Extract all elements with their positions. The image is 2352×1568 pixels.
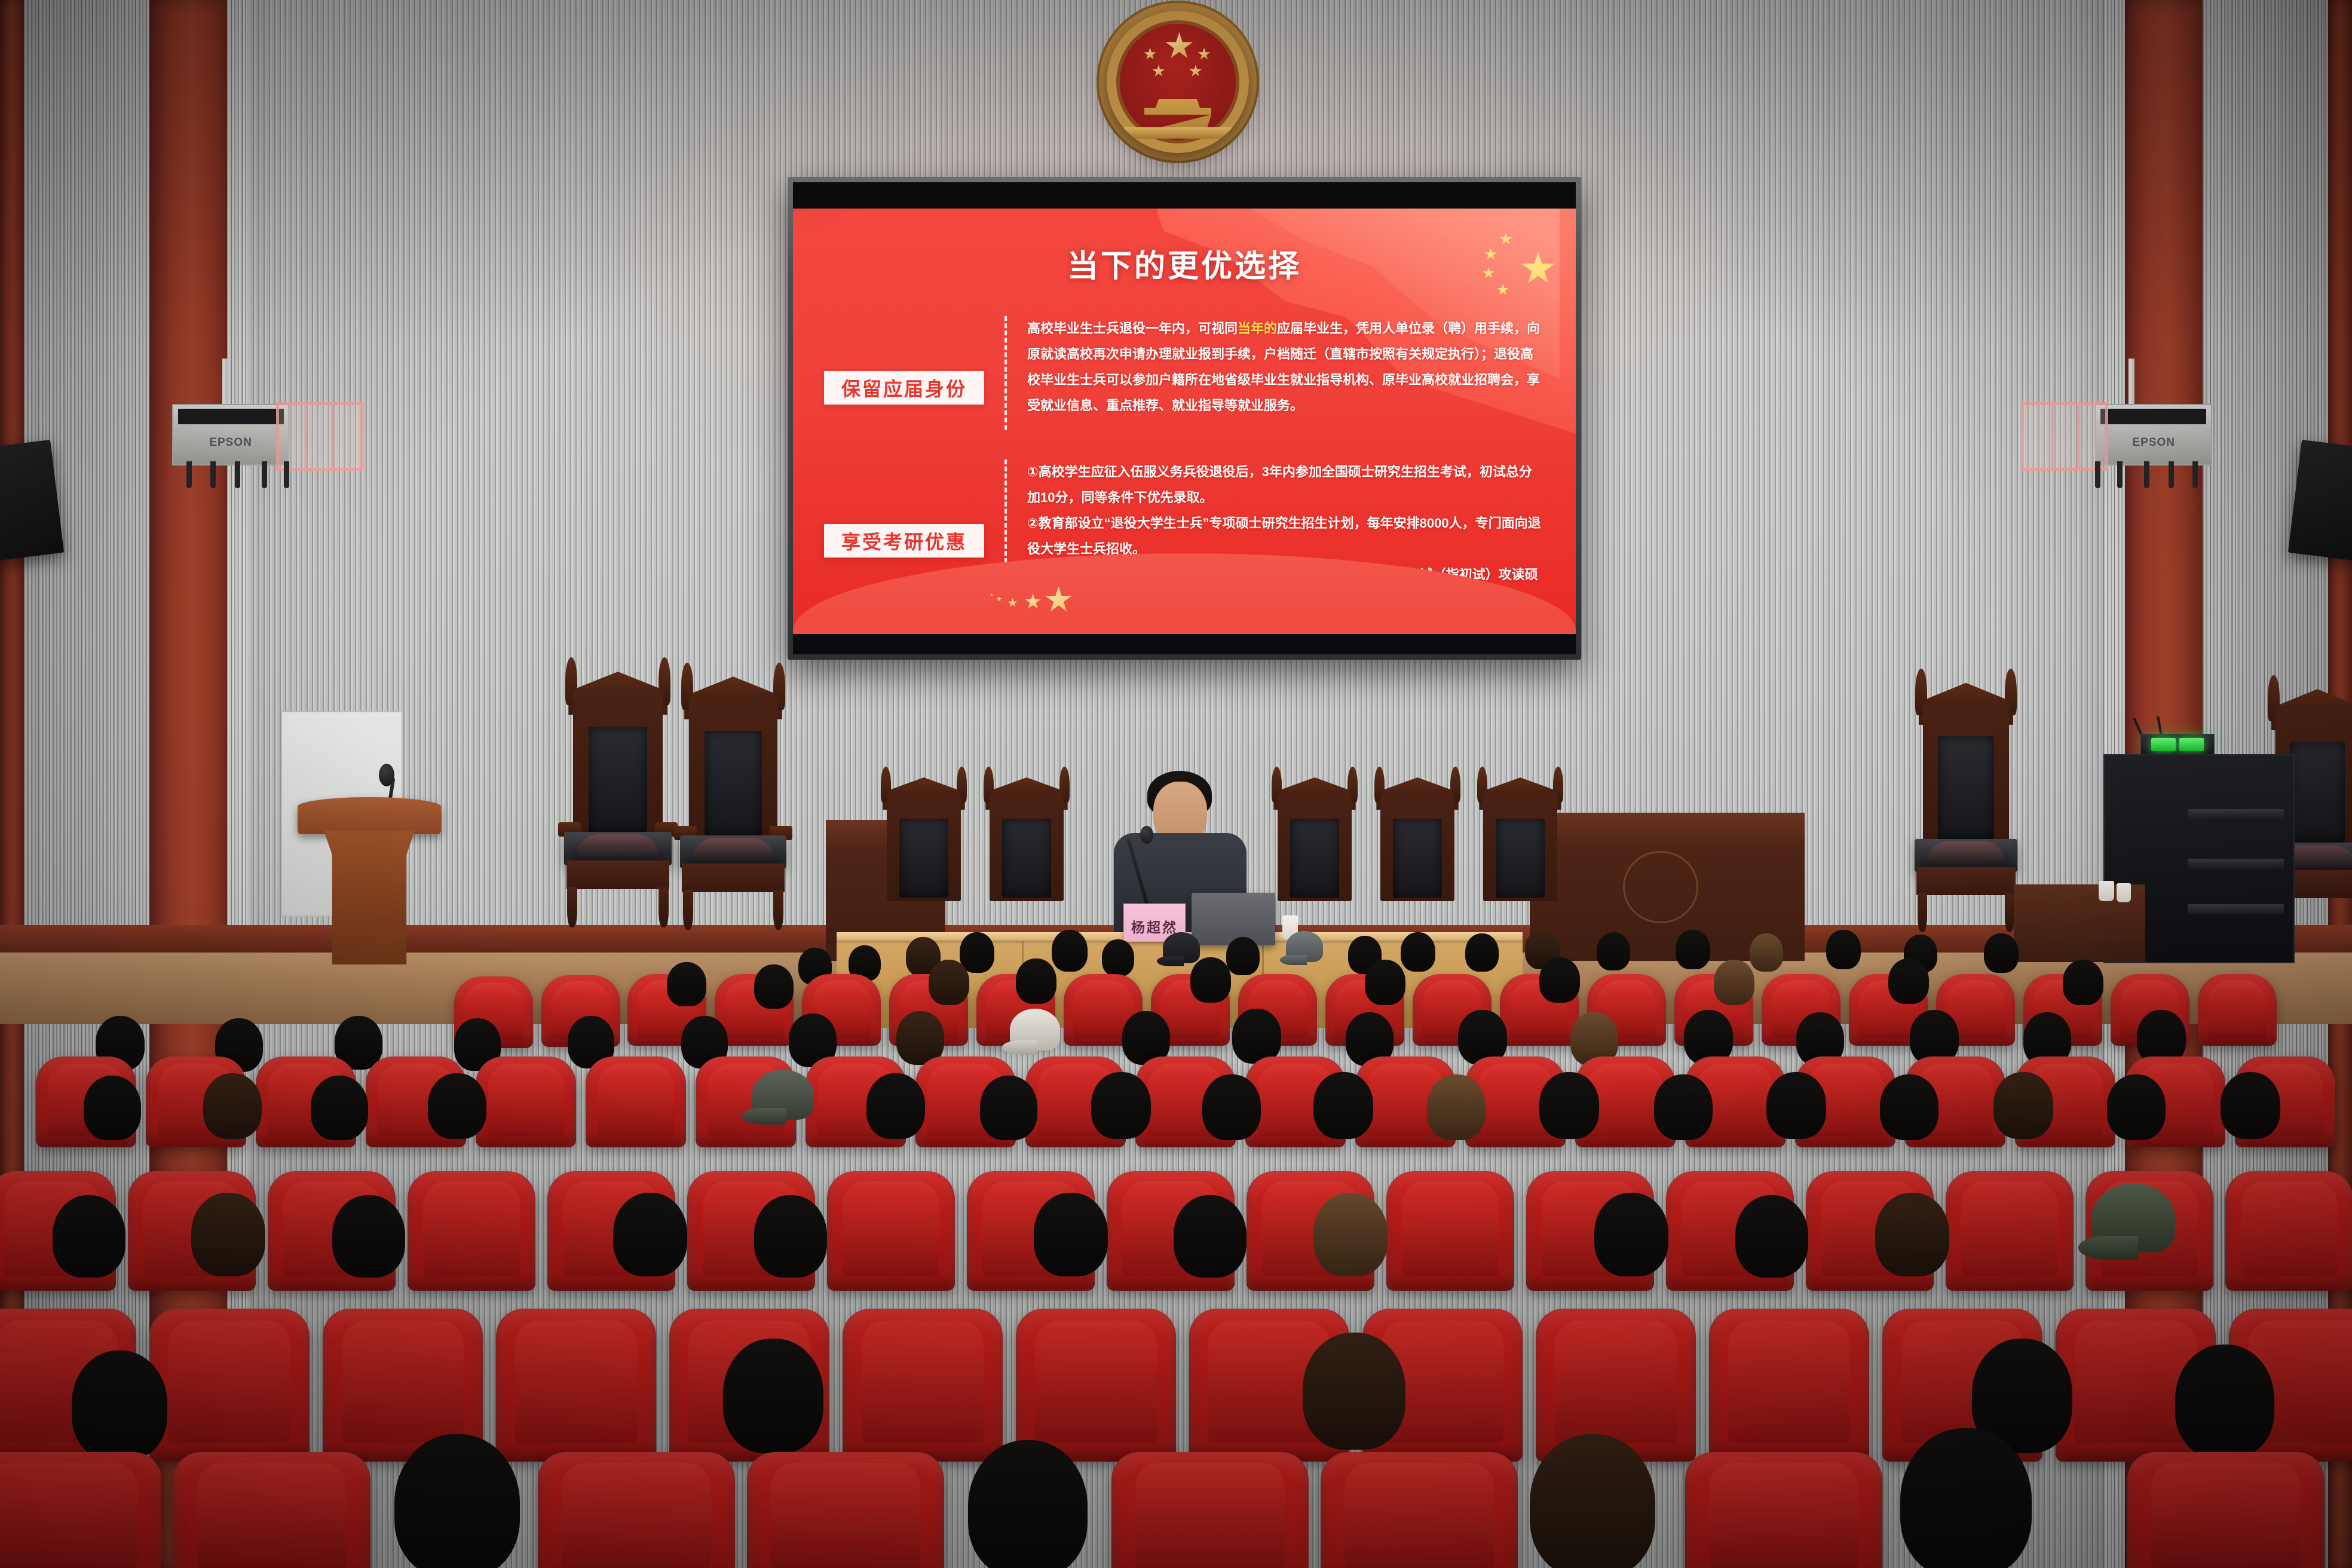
projector-mount-pipe-right	[2129, 359, 2134, 410]
audience-head-foreground	[1530, 1434, 1655, 1568]
seat	[2225, 1171, 2352, 1291]
audience-head-foreground	[394, 1434, 520, 1568]
seat	[1016, 1309, 1176, 1462]
chair-back-pad	[1393, 819, 1441, 898]
screen-letterbox-bottom	[793, 634, 1576, 654]
audience-head	[1750, 933, 1783, 972]
audience-head	[1016, 958, 1056, 1004]
chair-back-pad	[899, 819, 948, 898]
chair-apron	[682, 863, 784, 892]
slide-block-1: 保留应届身份 高校毕业生士兵退役一年内，可视同当年的应届毕业生，凭用人单位录（聘…	[824, 316, 1545, 430]
ornate-chair-left-1	[562, 688, 674, 927]
chair-leg-right	[2005, 893, 2014, 932]
audience-head	[1401, 932, 1435, 972]
audience-head	[960, 932, 994, 973]
chair-leg-left	[567, 887, 577, 927]
audience-head	[723, 1339, 823, 1453]
audience-cap	[1286, 931, 1323, 962]
seat	[496, 1309, 656, 1462]
slide-tag-1: 保留应届身份	[824, 371, 984, 405]
audience-head	[1766, 1072, 1826, 1139]
slide-title: 当下的更优选择	[793, 241, 1576, 286]
seat	[149, 1309, 310, 1462]
audience-head	[1303, 1333, 1405, 1450]
audience-head	[1190, 957, 1231, 1003]
slide-highlight: 当年的	[1238, 321, 1277, 336]
chair-back-pad	[1938, 736, 1994, 839]
audience-head	[667, 962, 706, 1006]
slide-tag-2: 享受考研优惠	[824, 524, 984, 558]
chair-apron	[566, 860, 670, 889]
audience-head	[1052, 930, 1088, 972]
presentation-slide: 当下的更优选择 保留应届身份 高校毕业生士兵退役一年内，可视同当年的应届毕业生，…	[793, 209, 1576, 634]
audience-head	[2221, 1072, 2280, 1139]
gold-star-5	[990, 593, 994, 597]
emblem-gate-base	[1124, 127, 1232, 139]
slide-para-2a: ①高校学生应征入伍服义务兵役退役后，3年内参加全国硕士研究生招生考试，初试总分加…	[1027, 460, 1545, 511]
chair-leg-right	[659, 887, 669, 927]
chair-leg-left	[683, 890, 693, 930]
seat	[173, 1452, 370, 1568]
slide-divider-1	[1004, 316, 1007, 430]
projector-right-body: EPSON	[2095, 404, 2212, 465]
chair-back-pad	[2290, 742, 2345, 843]
audience-head	[1202, 1074, 1261, 1140]
audience-head	[980, 1076, 1037, 1140]
audience-head	[1676, 930, 1710, 969]
audience-head	[203, 1073, 262, 1139]
audience-head	[613, 1193, 687, 1276]
rack-shelf-2	[2188, 859, 2284, 869]
seat	[1685, 1452, 1882, 1568]
seat	[586, 1056, 686, 1147]
audience-head	[1984, 933, 2019, 973]
lectern-podium	[298, 797, 441, 964]
audience-head	[1226, 937, 1260, 975]
audience-head	[1714, 960, 1754, 1005]
national-emblem	[1107, 11, 1249, 153]
ornate-chair-right-1	[1912, 699, 2020, 932]
audience-head	[1888, 958, 1929, 1004]
seat	[843, 1309, 1003, 1462]
audience-head	[428, 1073, 486, 1139]
audience-head	[1174, 1195, 1247, 1278]
receiver-led-2	[2179, 738, 2204, 751]
gold-star-3	[1008, 598, 1018, 608]
audience-head	[1594, 1193, 1668, 1276]
gold-star-2	[1025, 593, 1042, 610]
rack-shelf-1	[2188, 809, 2284, 819]
chair-back-pad	[1496, 819, 1544, 898]
chair-back-pad	[1290, 819, 1339, 898]
audience-head	[1034, 1193, 1108, 1276]
audience-cap	[2091, 1183, 2175, 1252]
projector-left-legs	[179, 461, 290, 488]
audience-head	[754, 964, 794, 1009]
audience-head	[2175, 1345, 2274, 1458]
screen-surface: 当下的更优选择 保留应届身份 高校毕业生士兵退役一年内，可视同当年的应届毕业生，…	[793, 182, 1576, 654]
audience-head	[1539, 1072, 1599, 1139]
projector-left-brand: EPSON	[209, 436, 252, 449]
podium-microphone-head	[379, 764, 394, 786]
projector-left-vent	[178, 409, 284, 424]
audience-head	[1232, 1009, 1281, 1064]
podium-top-surface	[298, 797, 441, 834]
seat	[1386, 1171, 1514, 1291]
ornate-chair-left-2	[678, 693, 789, 930]
audience-head	[1826, 930, 1861, 969]
audience-cap	[1010, 1009, 1060, 1051]
projector-right-brand: EPSON	[2132, 436, 2175, 449]
chair-leg-right	[773, 890, 783, 930]
chair-back-pad	[705, 731, 762, 835]
auditorium-photo: 当下的更优选择 保留应届身份 高校毕业生士兵退役一年内，可视同当年的应届毕业生，…	[0, 0, 2352, 1568]
audience-head	[1313, 1193, 1388, 1276]
projector-left-body: EPSON	[172, 404, 289, 465]
audience-head-foreground	[968, 1440, 1088, 1568]
audience-head	[1597, 932, 1630, 970]
seat	[1709, 1309, 1869, 1462]
screen-letterbox-top	[793, 182, 1576, 209]
seat	[476, 1056, 576, 1147]
paper-cup-rack-2	[2117, 883, 2131, 902]
audience-head	[1465, 933, 1499, 972]
slide-para1-part-a: 高校毕业生士兵退役一年内，可视同	[1027, 321, 1238, 336]
gold-star-1	[1045, 586, 1073, 614]
seat	[538, 1452, 735, 1568]
audience-head	[1427, 1074, 1486, 1140]
projector-left: EPSON	[172, 404, 357, 500]
table-microphone-head	[1140, 826, 1153, 844]
receiver-led-1	[2151, 738, 2176, 751]
audience-head	[1091, 1072, 1151, 1139]
audience-head	[1880, 1074, 1938, 1140]
audience-head	[1654, 1074, 1713, 1140]
seat	[1946, 1171, 2074, 1291]
audience-head	[1365, 960, 1405, 1005]
audience-head	[1102, 939, 1134, 976]
projector-right-vent	[2101, 409, 2207, 424]
seat	[408, 1171, 535, 1291]
chair-leg-left	[1918, 893, 1927, 932]
rack-shelf-3	[2188, 904, 2284, 914]
slide-gold-stars	[887, 577, 1074, 615]
audience-head	[191, 1193, 265, 1276]
flag-star-4	[1497, 284, 1509, 296]
seat	[827, 1171, 955, 1291]
audience-head	[311, 1076, 368, 1140]
audience-head	[754, 1195, 827, 1278]
seat	[1111, 1452, 1309, 1568]
chair-back-pad	[1002, 819, 1051, 898]
audience-head	[1993, 1072, 2053, 1139]
audience-head	[2063, 960, 2103, 1005]
projector-right: EPSON	[2027, 404, 2212, 500]
audience-head	[1875, 1193, 1949, 1276]
audience-cap	[752, 1070, 814, 1120]
audience-head	[866, 1073, 925, 1139]
seat	[0, 1452, 161, 1568]
chair-back-pad	[589, 727, 647, 832]
audience-head	[1313, 1072, 1373, 1139]
audience-head	[332, 1195, 405, 1278]
projector-right-legs	[2094, 461, 2205, 488]
audience-head	[929, 960, 969, 1005]
bench-emblem-carving	[1623, 851, 1698, 923]
audience-head	[53, 1195, 125, 1278]
seat	[747, 1452, 944, 1568]
audience-head	[2107, 1074, 2166, 1140]
podium-column	[318, 831, 421, 964]
slide-paragraph-1: 高校毕业生士兵退役一年内，可视同当年的应届毕业生，凭用人单位录（聘）用手续，向原…	[1027, 316, 1545, 419]
gold-star-4	[997, 596, 1002, 602]
led-display-screen: 当下的更优选择 保留应届身份 高校毕业生士兵退役一年内，可视同当年的应届毕业生，…	[788, 177, 1581, 660]
speaker-laptop	[1192, 893, 1275, 945]
audience-head	[72, 1350, 167, 1460]
chair-apron	[1916, 867, 2016, 895]
audience-head	[84, 1076, 141, 1140]
seat	[2127, 1452, 2325, 1568]
audience-head-foreground	[1900, 1428, 2032, 1568]
wireless-receiver-unit	[2140, 734, 2215, 755]
audience-head	[1735, 1195, 1808, 1278]
seat	[2198, 974, 2277, 1046]
audience-head	[1539, 957, 1580, 1003]
paper-cup-rack-1	[2099, 881, 2114, 901]
audience-cap	[1163, 932, 1200, 963]
projector-mount-pipe-left	[222, 359, 228, 410]
seat	[1321, 1452, 1518, 1568]
